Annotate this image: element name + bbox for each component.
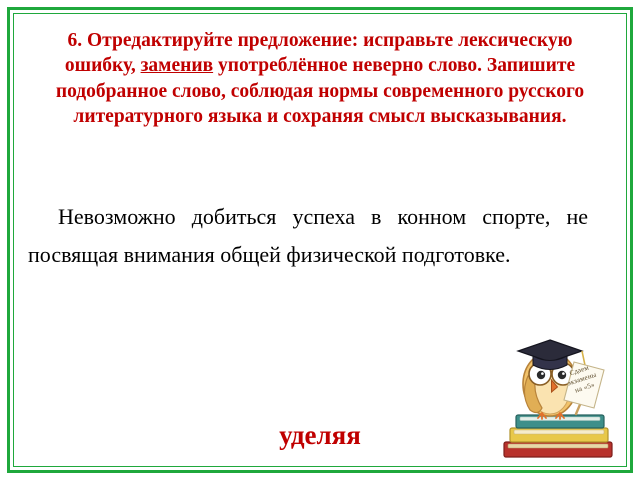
task-title: 6. Отредактируйте предложение: исправьте…: [30, 28, 610, 129]
slide: 6. Отредактируйте предложение: исправьте…: [0, 0, 640, 480]
answer-word: уделяя: [0, 420, 640, 451]
task-sentence: Невозможно добиться успеха в конном спор…: [28, 198, 588, 274]
task-title-underlined: заменив: [141, 55, 214, 76]
